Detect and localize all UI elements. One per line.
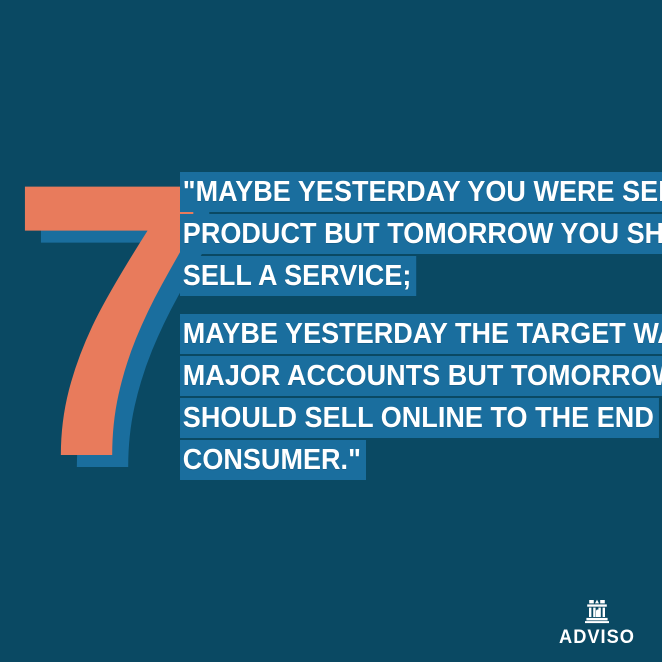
adviso-building-mark-icon	[584, 599, 610, 624]
quote-paragraph-1: "MAYBE YESTERDAY YOU WERE SELLING A PROD…	[180, 172, 650, 296]
quote-text-block: "MAYBE YESTERDAY YOU WERE SELLING A PROD…	[180, 172, 650, 482]
paragraph-spacer	[180, 298, 650, 314]
quote-card: 7 7 "MAYBE YESTERDAY YOU WERE SELLING A …	[0, 0, 662, 662]
quote-line: MAYBE YESTERDAY THE TARGET WAS THE	[180, 314, 662, 354]
numeral-seven: 7 7	[4, 150, 184, 490]
adviso-logo: ADVISO	[554, 599, 640, 648]
quote-paragraph-2: MAYBE YESTERDAY THE TARGET WAS THE MAJOR…	[180, 314, 650, 480]
quote-line: "MAYBE YESTERDAY YOU WERE SELLING A	[180, 172, 662, 212]
quote-line: CONSUMER."	[180, 440, 366, 480]
adviso-wordmark: ADVISO	[556, 627, 639, 648]
quote-line: PRODUCT BUT TOMORROW YOU SHOULD	[180, 214, 662, 254]
quote-line: SELL A SERVICE;	[180, 256, 416, 296]
quote-line: MAJOR ACCOUNTS BUT TOMORROW YOU	[180, 356, 662, 396]
numeral-seven-main: 7	[4, 150, 170, 490]
quote-line: SHOULD SELL ONLINE TO THE END	[180, 398, 659, 438]
